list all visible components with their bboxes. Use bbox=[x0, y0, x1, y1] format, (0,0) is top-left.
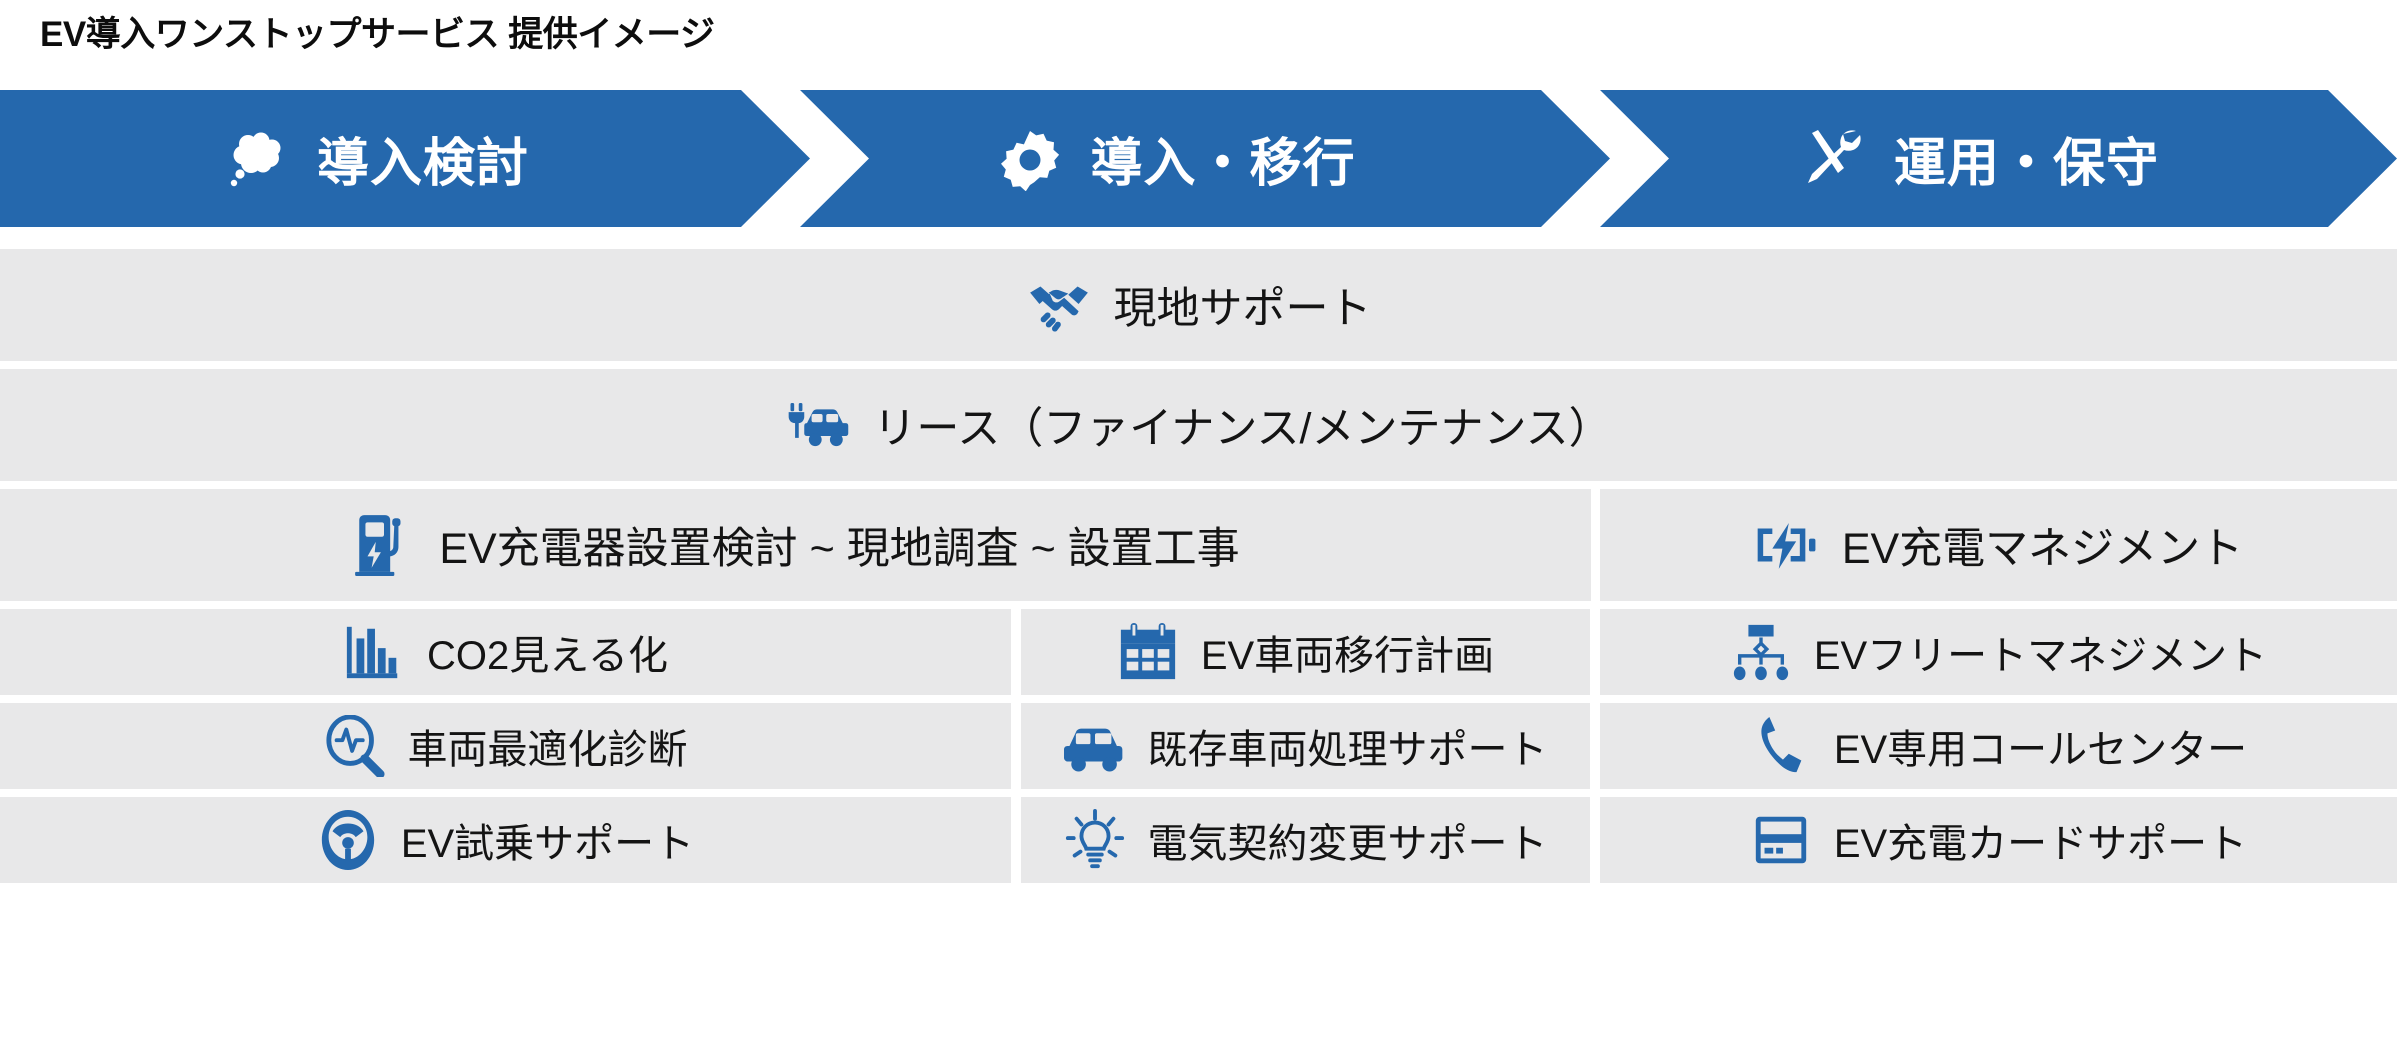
service-label: EV専用コールセンター bbox=[1834, 717, 2247, 775]
service-cell-onsite-support[interactable]: 現地サポート bbox=[0, 249, 2397, 361]
phase-banner-introduction-study[interactable]: 導入検討 bbox=[0, 90, 810, 227]
service-label: リース（ファイナンス/メンテナンス） bbox=[873, 394, 1611, 456]
service-cell-ev-charging-card-support[interactable]: EV充電カードサポート bbox=[1600, 797, 2397, 883]
service-cell-electricity-contract-change[interactable]: 電気契約変更サポート bbox=[1021, 797, 1590, 883]
service-cell-ev-call-center[interactable]: EV専用コールセンター bbox=[1600, 703, 2397, 789]
service-cell-co2-visualization[interactable]: CO2見える化 bbox=[0, 609, 1011, 695]
service-label: EV試乗サポート bbox=[401, 811, 694, 869]
service-label: EV充電マネジメント bbox=[1842, 514, 2243, 576]
battery-charging-icon bbox=[1754, 512, 1820, 578]
service-label: EV車両移行計画 bbox=[1201, 623, 1494, 681]
service-cell-ev-migration-plan[interactable]: EV車両移行計画 bbox=[1021, 609, 1590, 695]
hierarchy-icon bbox=[1730, 621, 1792, 683]
service-label: 車両最適化診断 bbox=[408, 717, 688, 775]
gear-icon bbox=[998, 127, 1062, 191]
calendar-icon bbox=[1117, 621, 1179, 683]
service-cell-lease[interactable]: リース（ファイナンス/メンテナンス） bbox=[0, 369, 2397, 481]
service-cell-vehicle-optimization-diagnosis[interactable]: 車両最適化診断 bbox=[0, 703, 1011, 789]
service-label: CO2見える化 bbox=[427, 623, 668, 681]
service-label: 電気契約変更サポート bbox=[1148, 811, 1548, 869]
service-cell-charging-management[interactable]: EV充電マネジメント bbox=[1600, 489, 2397, 601]
service-label: EV充電カードサポート bbox=[1834, 811, 2247, 869]
lightbulb-icon bbox=[1064, 809, 1126, 871]
phase-label: 運用・保守 bbox=[1894, 121, 2159, 196]
service-cell-ev-test-drive-support[interactable]: EV試乗サポート bbox=[0, 797, 1011, 883]
phase-label: 導入検討 bbox=[317, 121, 529, 196]
phase-banner-operation-maintenance[interactable]: 運用・保守 bbox=[1600, 90, 2397, 227]
steering-wheel-icon bbox=[317, 809, 379, 871]
car-icon bbox=[1064, 715, 1126, 777]
phase-label: 導入・移行 bbox=[1090, 121, 1355, 196]
magnifier-pulse-icon bbox=[324, 715, 386, 777]
service-label: EVフリートマネジメント bbox=[1814, 623, 2267, 681]
card-icon bbox=[1750, 809, 1812, 871]
phase-banner-row: 導入検討 導入・移行 運用・保守 bbox=[0, 90, 2397, 227]
phase-banner-deployment-migration[interactable]: 導入・移行 bbox=[800, 90, 1610, 227]
service-label: 現地サポート bbox=[1114, 274, 1372, 336]
service-label: 既存車両処理サポート bbox=[1148, 717, 1548, 775]
service-cell-fleet-management[interactable]: EVフリートマネジメント bbox=[1600, 609, 2397, 695]
bar-chart-icon bbox=[343, 621, 405, 683]
thought-cloud-icon bbox=[225, 127, 289, 191]
handshake-icon bbox=[1026, 272, 1092, 338]
service-label: EV充電器設置検討 ~ 現地調査 ~ 設置工事 bbox=[439, 514, 1239, 576]
ev-car-plug-icon bbox=[785, 392, 851, 458]
phone-icon bbox=[1750, 715, 1812, 777]
slide-root: EV導入ワンストップサービス 提供イメージ 導入検討 bbox=[0, 0, 2397, 1054]
service-cell-charger-installation[interactable]: EV充電器設置検討 ~ 現地調査 ~ 設置工事 bbox=[0, 489, 1591, 601]
page-title: EV導入ワンストップサービス 提供イメージ bbox=[40, 6, 715, 57]
charging-station-icon bbox=[351, 512, 417, 578]
tools-icon bbox=[1802, 127, 1866, 191]
service-cell-existing-vehicle-disposal[interactable]: 既存車両処理サポート bbox=[1021, 703, 1590, 789]
